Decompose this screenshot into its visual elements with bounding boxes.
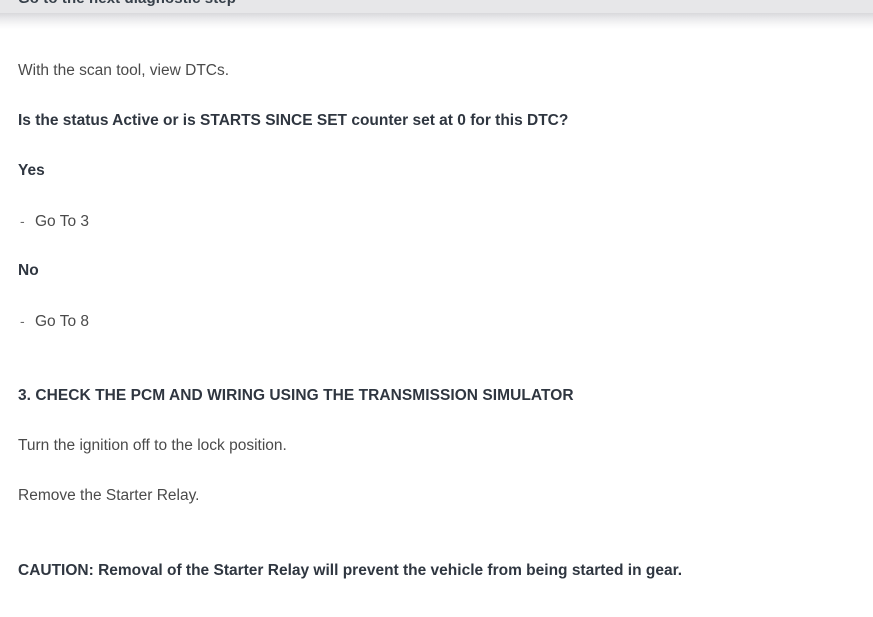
answer-yes-action: - Go To 3 — [0, 211, 873, 232]
step-2-question: Is the status Active or is STARTS SINCE … — [0, 111, 873, 131]
list-item[interactable]: - Go To 3 — [20, 211, 873, 232]
scan-tool-instruction-text: With the scan tool, view DTCs. — [18, 61, 873, 81]
goto-link-3[interactable]: Go To 3 — [35, 212, 89, 232]
caution-text: CAUTION: Removal of the Starter Relay wi… — [18, 561, 873, 581]
sticky-header-band: Go to the next diagnostic step — [0, 0, 873, 13]
diagnostic-procedure-document: 2. CHECK IF THE DTC IS CURRENT With the … — [0, 0, 873, 617]
answer-yes-label: Yes — [18, 161, 873, 181]
step-2-instruction: With the scan tool, view DTCs. — [0, 61, 873, 81]
goto-list-yes: - Go To 3 — [20, 211, 873, 232]
goto-link-8[interactable]: Go To 8 — [35, 312, 89, 332]
step-3-section: 3. CHECK THE PCM AND WIRING USING THE TR… — [0, 386, 873, 406]
remove-starter-relay-instruction-text: Remove the Starter Relay. — [18, 486, 873, 506]
answer-yes-block: Yes — [0, 161, 873, 181]
clipped-previous-line: Go to the next diagnostic step — [18, 0, 236, 7]
caution-block: CAUTION: Removal of the Starter Relay wi… — [0, 561, 873, 581]
step-2-section: 2. CHECK IF THE DTC IS CURRENT — [0, 11, 873, 31]
step-3-heading: 3. CHECK THE PCM AND WIRING USING THE TR… — [18, 386, 873, 406]
dash-bullet-icon: - — [20, 211, 35, 231]
answer-no-action: - Go To 8 — [0, 311, 873, 332]
dash-bullet-icon: - — [20, 311, 35, 331]
list-item[interactable]: - Go To 8 — [20, 311, 873, 332]
goto-list-no: - Go To 8 — [20, 311, 873, 332]
step-3-instruction-1: Turn the ignition off to the lock positi… — [0, 436, 873, 456]
step-2-heading: 2. CHECK IF THE DTC IS CURRENT — [18, 11, 873, 31]
dtc-status-question-text: Is the status Active or is STARTS SINCE … — [18, 111, 873, 131]
step-3-instruction-2: Remove the Starter Relay. — [0, 486, 873, 506]
ignition-off-instruction-text: Turn the ignition off to the lock positi… — [18, 436, 873, 456]
answer-no-block: No — [0, 261, 873, 281]
answer-no-label: No — [18, 261, 873, 281]
